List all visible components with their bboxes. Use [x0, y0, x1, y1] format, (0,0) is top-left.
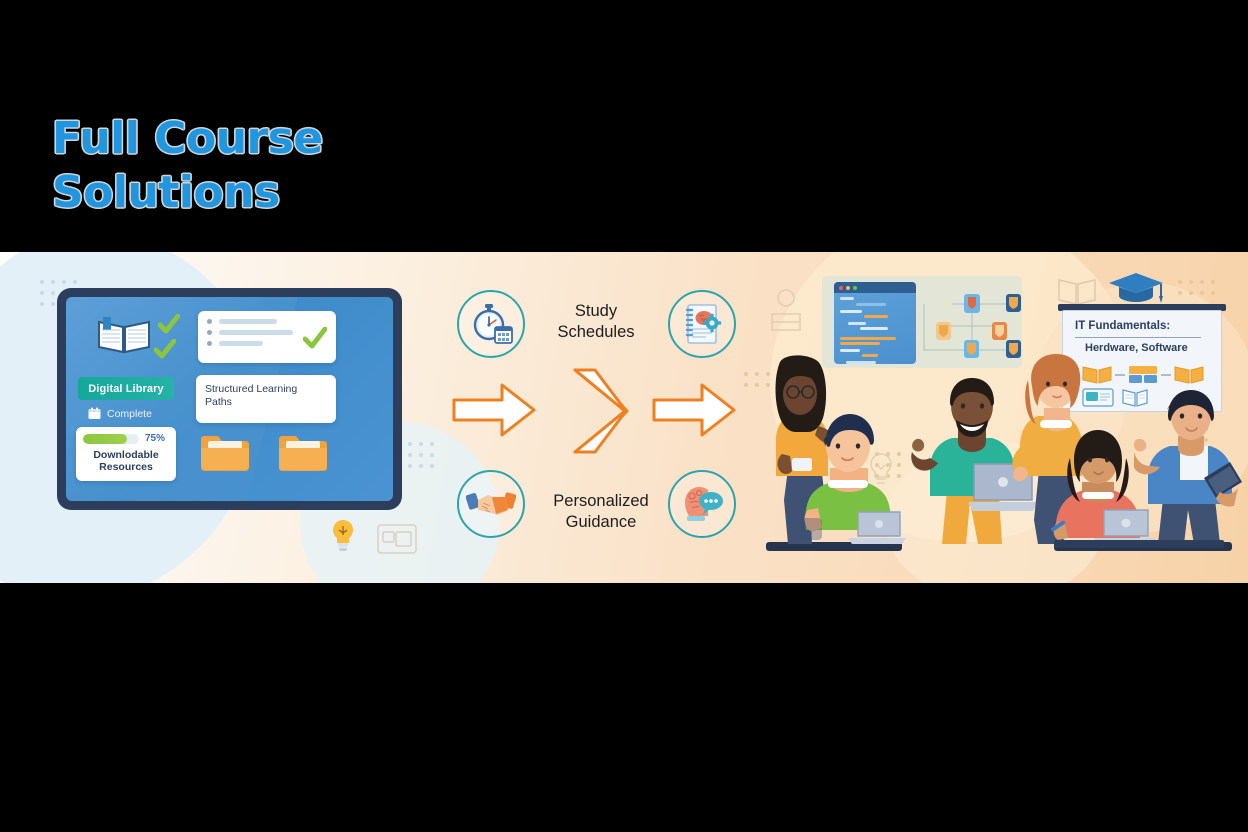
- checklist-card: [198, 311, 336, 363]
- window-outline-icon: [377, 524, 417, 554]
- code-line: [840, 310, 862, 313]
- complete-status-row: Complete: [88, 407, 152, 420]
- code-line: [860, 327, 888, 330]
- whiteboard-title: IT Fundamentals:: [1075, 320, 1170, 332]
- study-schedules-label: Study Schedules: [536, 301, 656, 343]
- green-check-icon: [154, 339, 176, 359]
- progress-row: 75%: [83, 433, 169, 444]
- notebook-brain-gear-icon: [679, 301, 725, 347]
- notebook-brain-icon-circle: [668, 290, 736, 358]
- lightbulb-icon: [329, 518, 357, 556]
- structured-learning-paths-card: Structured Learning Paths: [196, 375, 336, 423]
- slp-line-1: Structured Learning: [205, 383, 327, 396]
- arrow-right-icon-2: [652, 381, 736, 439]
- person-man-blue-standing: [1134, 388, 1246, 548]
- code-line: [864, 315, 888, 318]
- close-icon[interactable]: [839, 286, 843, 290]
- stopwatch-calendar-icon: [467, 300, 515, 348]
- page-title-line-1: Full Course: [52, 112, 323, 166]
- downloadable-resources-label: Downlodable Resources: [83, 449, 169, 473]
- shield-network-diagram: [920, 288, 1024, 366]
- progress-track: [83, 434, 139, 444]
- code-line: [840, 342, 880, 345]
- downloadable-resources-card: 75% Downlodable Resources: [76, 427, 176, 481]
- screenshot-root: Full Course Solutions: [0, 0, 1248, 832]
- person-outline-icon: [764, 286, 814, 338]
- monitor-screen: Digital Library Complete: [66, 297, 393, 501]
- slp-line-2: Paths: [205, 396, 327, 409]
- maximize-icon[interactable]: [853, 286, 857, 290]
- whiteboard-divider: [1075, 337, 1201, 338]
- page-title-line-2: Solutions: [52, 166, 323, 220]
- laptop-icon: [846, 510, 908, 546]
- progress-fill: [83, 434, 127, 444]
- graduation-cap-icon: [1107, 270, 1165, 306]
- classroom-scene: IT Fundamentals: Herdware, Software: [762, 258, 1248, 583]
- list-item: [207, 319, 327, 324]
- brain-speech-icon-circle: [668, 470, 736, 538]
- code-line: [848, 322, 866, 325]
- folder-icon: [200, 433, 250, 471]
- digital-library-chip: Digital Library: [78, 377, 174, 400]
- minimize-icon[interactable]: [846, 286, 850, 290]
- arrow-right-icon-1: [452, 381, 536, 439]
- book-icon: [1057, 276, 1097, 306]
- green-check-icon: [158, 314, 180, 334]
- progress-percent: 75%: [145, 433, 165, 444]
- hero-banner: Digital Library Complete: [0, 252, 1248, 583]
- code-line: [856, 303, 886, 306]
- complete-label: Complete: [107, 408, 152, 420]
- folder-icon: [278, 433, 328, 471]
- code-line: [840, 297, 854, 300]
- chevron-right-icon: [567, 367, 629, 455]
- page-title: Full Course Solutions: [52, 112, 323, 220]
- study-schedules-icon-circle: [457, 290, 525, 358]
- handshake-icon: [466, 484, 516, 524]
- green-check-icon: [303, 327, 327, 349]
- personalized-guidance-icon-circle: [457, 470, 525, 538]
- open-book-icon: [96, 315, 152, 355]
- monitor-illustration: Digital Library Complete: [57, 288, 402, 510]
- calendar-icon: [88, 407, 101, 420]
- code-line: [840, 337, 896, 340]
- window-titlebar: [834, 282, 916, 293]
- brain-speech-bubble-icon: [679, 482, 725, 526]
- whiteboard-bottom-rail: [1054, 540, 1224, 548]
- personalized-guidance-label: Personalized Guidance: [536, 491, 666, 533]
- dot-grid-monitor-right: [408, 442, 434, 468]
